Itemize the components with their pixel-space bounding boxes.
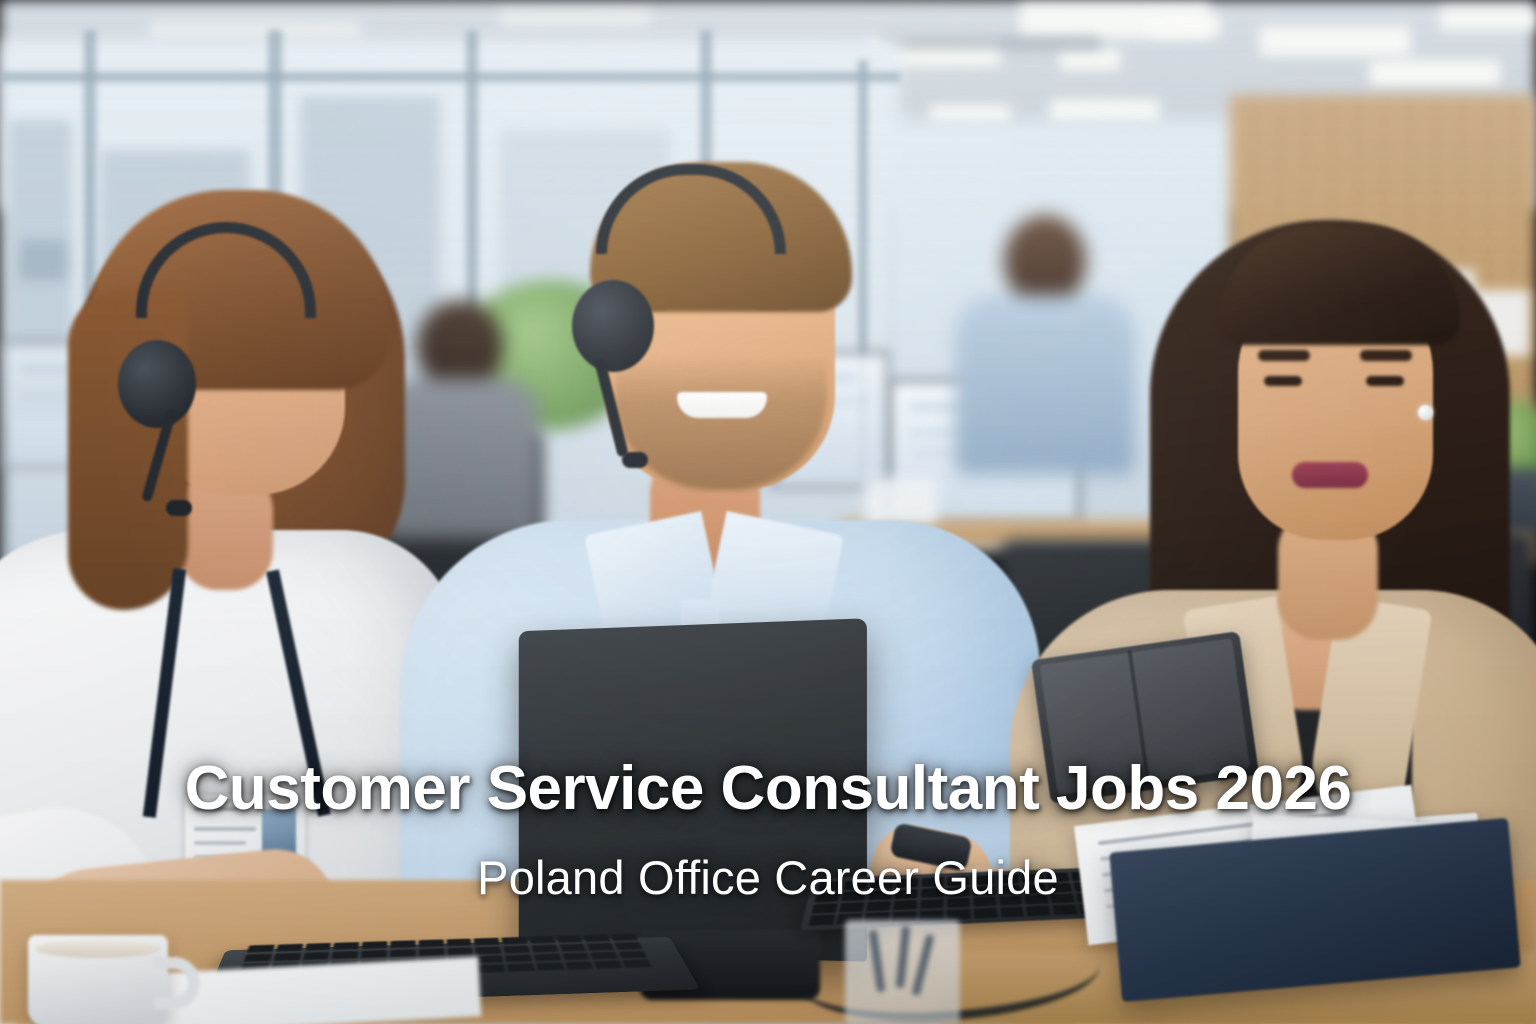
ceiling-light <box>1060 50 1120 70</box>
ceiling-light <box>1370 60 1500 86</box>
ceiling-light <box>500 10 650 26</box>
tablet-device <box>1031 631 1259 804</box>
pen-holder <box>845 920 960 1024</box>
eye <box>1264 376 1302 386</box>
coffee-mug <box>28 935 168 1024</box>
ceiling-light <box>1260 26 1410 56</box>
hair-side <box>68 290 188 610</box>
window-transom <box>0 72 900 82</box>
eyebrow <box>1360 350 1412 361</box>
eye <box>1366 376 1404 386</box>
office-photo-scene <box>0 0 1536 1024</box>
ceiling-light <box>150 22 360 38</box>
coffee-surface <box>35 940 161 958</box>
ceiling-light <box>1150 16 1220 36</box>
eyebrow <box>1258 350 1310 361</box>
ceiling-light <box>1440 8 1536 30</box>
ceiling-diffuser <box>880 36 1100 50</box>
hero-banner: Customer Service Consultant Jobs 2026 Po… <box>0 0 1536 1024</box>
earring <box>1418 405 1433 420</box>
badge-photo <box>262 809 296 855</box>
lips <box>1292 462 1368 488</box>
smile <box>677 392 767 418</box>
